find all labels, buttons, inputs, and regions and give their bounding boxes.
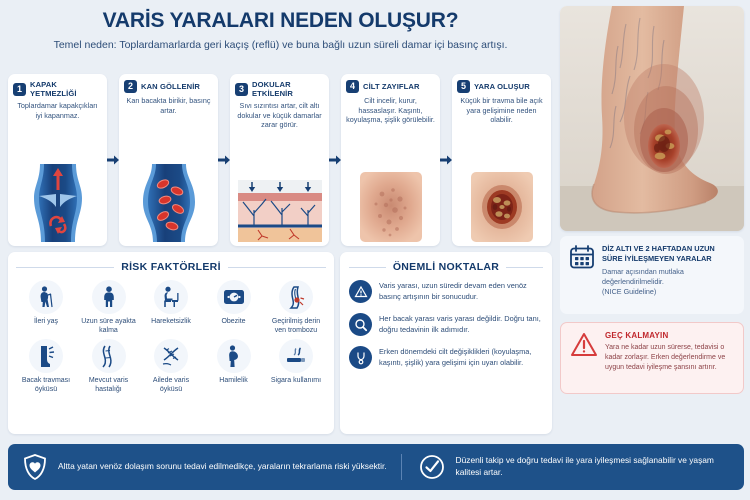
warning-body: GEÇ KALMAYIN Yara ne kadar uzun sürerse,… (605, 331, 734, 385)
risk-label: Bacak travması öyküsü (16, 376, 76, 394)
heading-rule-right (228, 267, 326, 268)
risk-item-uzun-sure-ayakta-kalma[interactable]: Uzun süre ayakta kalma (79, 280, 139, 335)
check-circle-icon (418, 453, 446, 481)
step-number-badge-5: 5 (457, 80, 470, 93)
discolored-skin-photo (346, 129, 435, 243)
step-desc-4: Cilt incelir, kurur, hassaslaşır. Kaşınt… (346, 96, 435, 125)
weight-scale-icon (217, 280, 251, 314)
warning-text: Yara ne kadar uzun sürerse, tedavisi o k… (605, 343, 734, 373)
heading-rule-right (506, 267, 543, 268)
stethoscope-icon (349, 346, 372, 369)
footer-bar: Altta yatan venöz dolaşım sorunu tedavi … (8, 444, 744, 490)
seated-person-icon (154, 280, 188, 314)
step-header-5: 5 YARA OLUŞUR (457, 80, 546, 93)
key-points-heading-row: ÖNEMLİ NOKTALAR (349, 261, 543, 273)
note-title: DİZ ALTI VE 2 HAFTADAN UZUN SÜRE İYİLEŞM… (602, 244, 735, 264)
step-header-2: 2 KAN GÖLLENİR (124, 80, 213, 93)
warning-card: GEÇ KALMAYIN Yara ne kadar uzun sürerse,… (560, 322, 744, 394)
step-card-1[interactable]: 1 KAPAK YETMEZLİĞİ Toplardamar kapakçıkl… (8, 74, 107, 246)
key-point-3: Erken dönemdeki cilt değişiklikleri (koy… (349, 346, 543, 369)
risk-label: Mevcut varis hastalığı (79, 376, 139, 394)
vein-valve-reflux-illustration (13, 124, 102, 242)
footer-right-item: Düzenli takip ve doğru tedavi ile yara i… (418, 453, 730, 481)
step-desc-5: Küçük bir travma bile açık yara gelişimi… (457, 96, 546, 125)
risk-label: Geçirilmiş derin ven trombozu (266, 317, 326, 335)
step-card-4[interactable]: 4 CİLT ZAYIFLAR Cilt incelir, kurur, has… (341, 74, 440, 246)
step-arrow-4-5 (440, 74, 452, 246)
key-point-1: Varis yarası, uzun süredir devam eden ve… (349, 280, 543, 303)
risk-factors-heading: RİSK FAKTÖRLERİ (121, 261, 221, 273)
step-desc-3: Sıvı sızıntısı artar, cilt altı dokular … (235, 101, 324, 130)
risk-row-1: İleri yaş Uzun süre ayakta kalma (16, 280, 326, 335)
step-arrow-1-2 (107, 74, 119, 246)
calendar-icon (569, 244, 595, 306)
cigarette-icon (279, 339, 313, 373)
step-arrow-3-4 (329, 74, 341, 246)
risk-factors-heading-row: RİSK FAKTÖRLERİ (16, 261, 326, 273)
page-title: VARİS YARALARI NEDEN OLUŞUR? (8, 10, 553, 32)
step-card-3[interactable]: 3 DOKULAR ETKİLENİR Sıvı sızıntısı artar… (230, 74, 329, 246)
steps-row: 1 KAPAK YETMEZLİĞİ Toplardamar kapakçıkl… (8, 74, 553, 246)
vein-pooled-blood-illustration (124, 119, 213, 242)
step-header-3: 3 DOKULAR ETKİLENİR (235, 80, 324, 98)
leg-thrombosis-icon (279, 280, 313, 314)
step-title-4: CİLT ZAYIFLAR (363, 82, 420, 91)
key-point-text: Erken dönemdeki cilt değişiklikleri (koy… (379, 346, 543, 368)
dna-helix-icon (154, 339, 188, 373)
step-header-1: 1 KAPAK YETMEZLİĞİ (13, 80, 102, 98)
key-point-text: Varis yarası, uzun süredir devam eden ve… (379, 280, 543, 302)
step-number-badge-4: 4 (346, 80, 359, 93)
page-subtitle: Temel neden: Toplardamarlarda geri kaçış… (8, 38, 553, 52)
venous-leg-ulcer-photo (560, 6, 744, 231)
risk-label: İleri yaş (34, 317, 58, 326)
note-source: (NICE Guideline) (602, 287, 735, 297)
risk-item-ileri-yas[interactable]: İleri yaş (16, 280, 76, 335)
standing-person-icon (92, 280, 126, 314)
step-title-1: KAPAK YETMEZLİĞİ (30, 80, 102, 98)
pregnant-woman-icon (217, 339, 251, 373)
risk-label: Uzun süre ayakta kalma (79, 317, 139, 335)
infographic-root: VARİS YARALARI NEDEN OLUŞUR? Temel neden… (0, 0, 750, 500)
risk-item-obezite[interactable]: Obezite (204, 280, 264, 335)
risk-item-bacak-travmasi[interactable]: Bacak travması öyküsü (16, 339, 76, 394)
key-point-2: Her bacak yarası varis yarası değildir. … (349, 313, 543, 336)
warning-title: GEÇ KALMAYIN (605, 331, 734, 340)
step-title-3: DOKULAR ETKİLENİR (252, 80, 324, 98)
step-number-badge-1: 1 (13, 83, 26, 96)
risk-item-hamilelik[interactable]: Hamilelik (204, 339, 264, 394)
note-body: DİZ ALTI VE 2 HAFTADAN UZUN SÜRE İYİLEŞM… (602, 244, 735, 306)
skin-cross-section-illustration (235, 134, 324, 243)
risk-item-sigara[interactable]: Sigara kullanımı (266, 339, 326, 394)
risk-factors-panel: RİSK FAKTÖRLERİ İleri yaş (8, 252, 334, 434)
step-card-5[interactable]: 5 YARA OLUŞUR Küçük bir travma bile açık… (452, 74, 551, 246)
elderly-person-with-cane-icon (29, 280, 63, 314)
step-card-2[interactable]: 2 KAN GÖLLENİR Kan bacakta birikir, bası… (119, 74, 218, 246)
risk-label: Hamilelik (219, 376, 247, 385)
risk-row-2: Bacak travması öyküsü Mevcut varis hasta… (16, 339, 326, 394)
alert-triangle-icon (570, 331, 598, 385)
risk-label: Hareketsizlik (151, 317, 191, 326)
risk-label: Obezite (221, 317, 245, 326)
risk-item-mevcut-varis[interactable]: Mevcut varis hastalığı (79, 339, 139, 394)
injured-leg-icon (29, 339, 63, 373)
step-title-5: YARA OLUŞUR (474, 82, 530, 91)
step-header-4: 4 CİLT ZAYIFLAR (346, 80, 435, 93)
heading-rule-left (16, 267, 114, 268)
varicose-vein-icon (92, 339, 126, 373)
key-points-panel: ÖNEMLİ NOKTALAR Varis yarası, uzun süred… (340, 252, 552, 434)
step-desc-1: Toplardamar kapakçıkları iyi kapanmaz. (13, 101, 102, 120)
heading-rule-left (349, 267, 386, 268)
risk-item-derin-ven-trombozu[interactable]: Geçirilmiş derin ven trombozu (266, 280, 326, 335)
key-points-heading: ÖNEMLİ NOKTALAR (393, 261, 499, 273)
note-card: DİZ ALTI VE 2 HAFTADAN UZUN SÜRE İYİLEŞM… (560, 236, 744, 314)
key-point-text: Her bacak yarası varis yarası değildir. … (379, 313, 543, 335)
risk-label: Sigara kullanımı (271, 376, 321, 385)
open-ulcer-photo (457, 129, 546, 243)
risk-label: Ailede varis öyküsü (141, 376, 201, 394)
step-number-badge-3: 3 (235, 83, 248, 96)
warning-triangle-icon (349, 280, 372, 303)
footer-right-text: Düzenli takip ve doğru tedavi ile yara i… (456, 455, 730, 479)
footer-divider (401, 454, 402, 480)
shield-heart-icon (22, 453, 48, 481)
step-arrow-2-3 (218, 74, 230, 246)
footer-left-text: Altta yatan venöz dolaşım sorunu tedavi … (58, 461, 387, 473)
footer-left-item: Altta yatan venöz dolaşım sorunu tedavi … (22, 453, 387, 481)
magnifier-icon (349, 313, 372, 336)
step-number-badge-2: 2 (124, 80, 137, 93)
header: VARİS YARALARI NEDEN OLUŞUR? Temel neden… (8, 6, 553, 53)
step-title-2: KAN GÖLLENİR (141, 82, 200, 91)
step-desc-2: Kan bacakta birikir, basınç artar. (124, 96, 213, 115)
risk-item-ailede-varis[interactable]: Ailede varis öyküsü (141, 339, 201, 394)
risk-item-hareketsizlik[interactable]: Hareketsizlik (141, 280, 201, 335)
note-text: Damar açısından mutlaka değerlendirilmel… (602, 267, 735, 287)
